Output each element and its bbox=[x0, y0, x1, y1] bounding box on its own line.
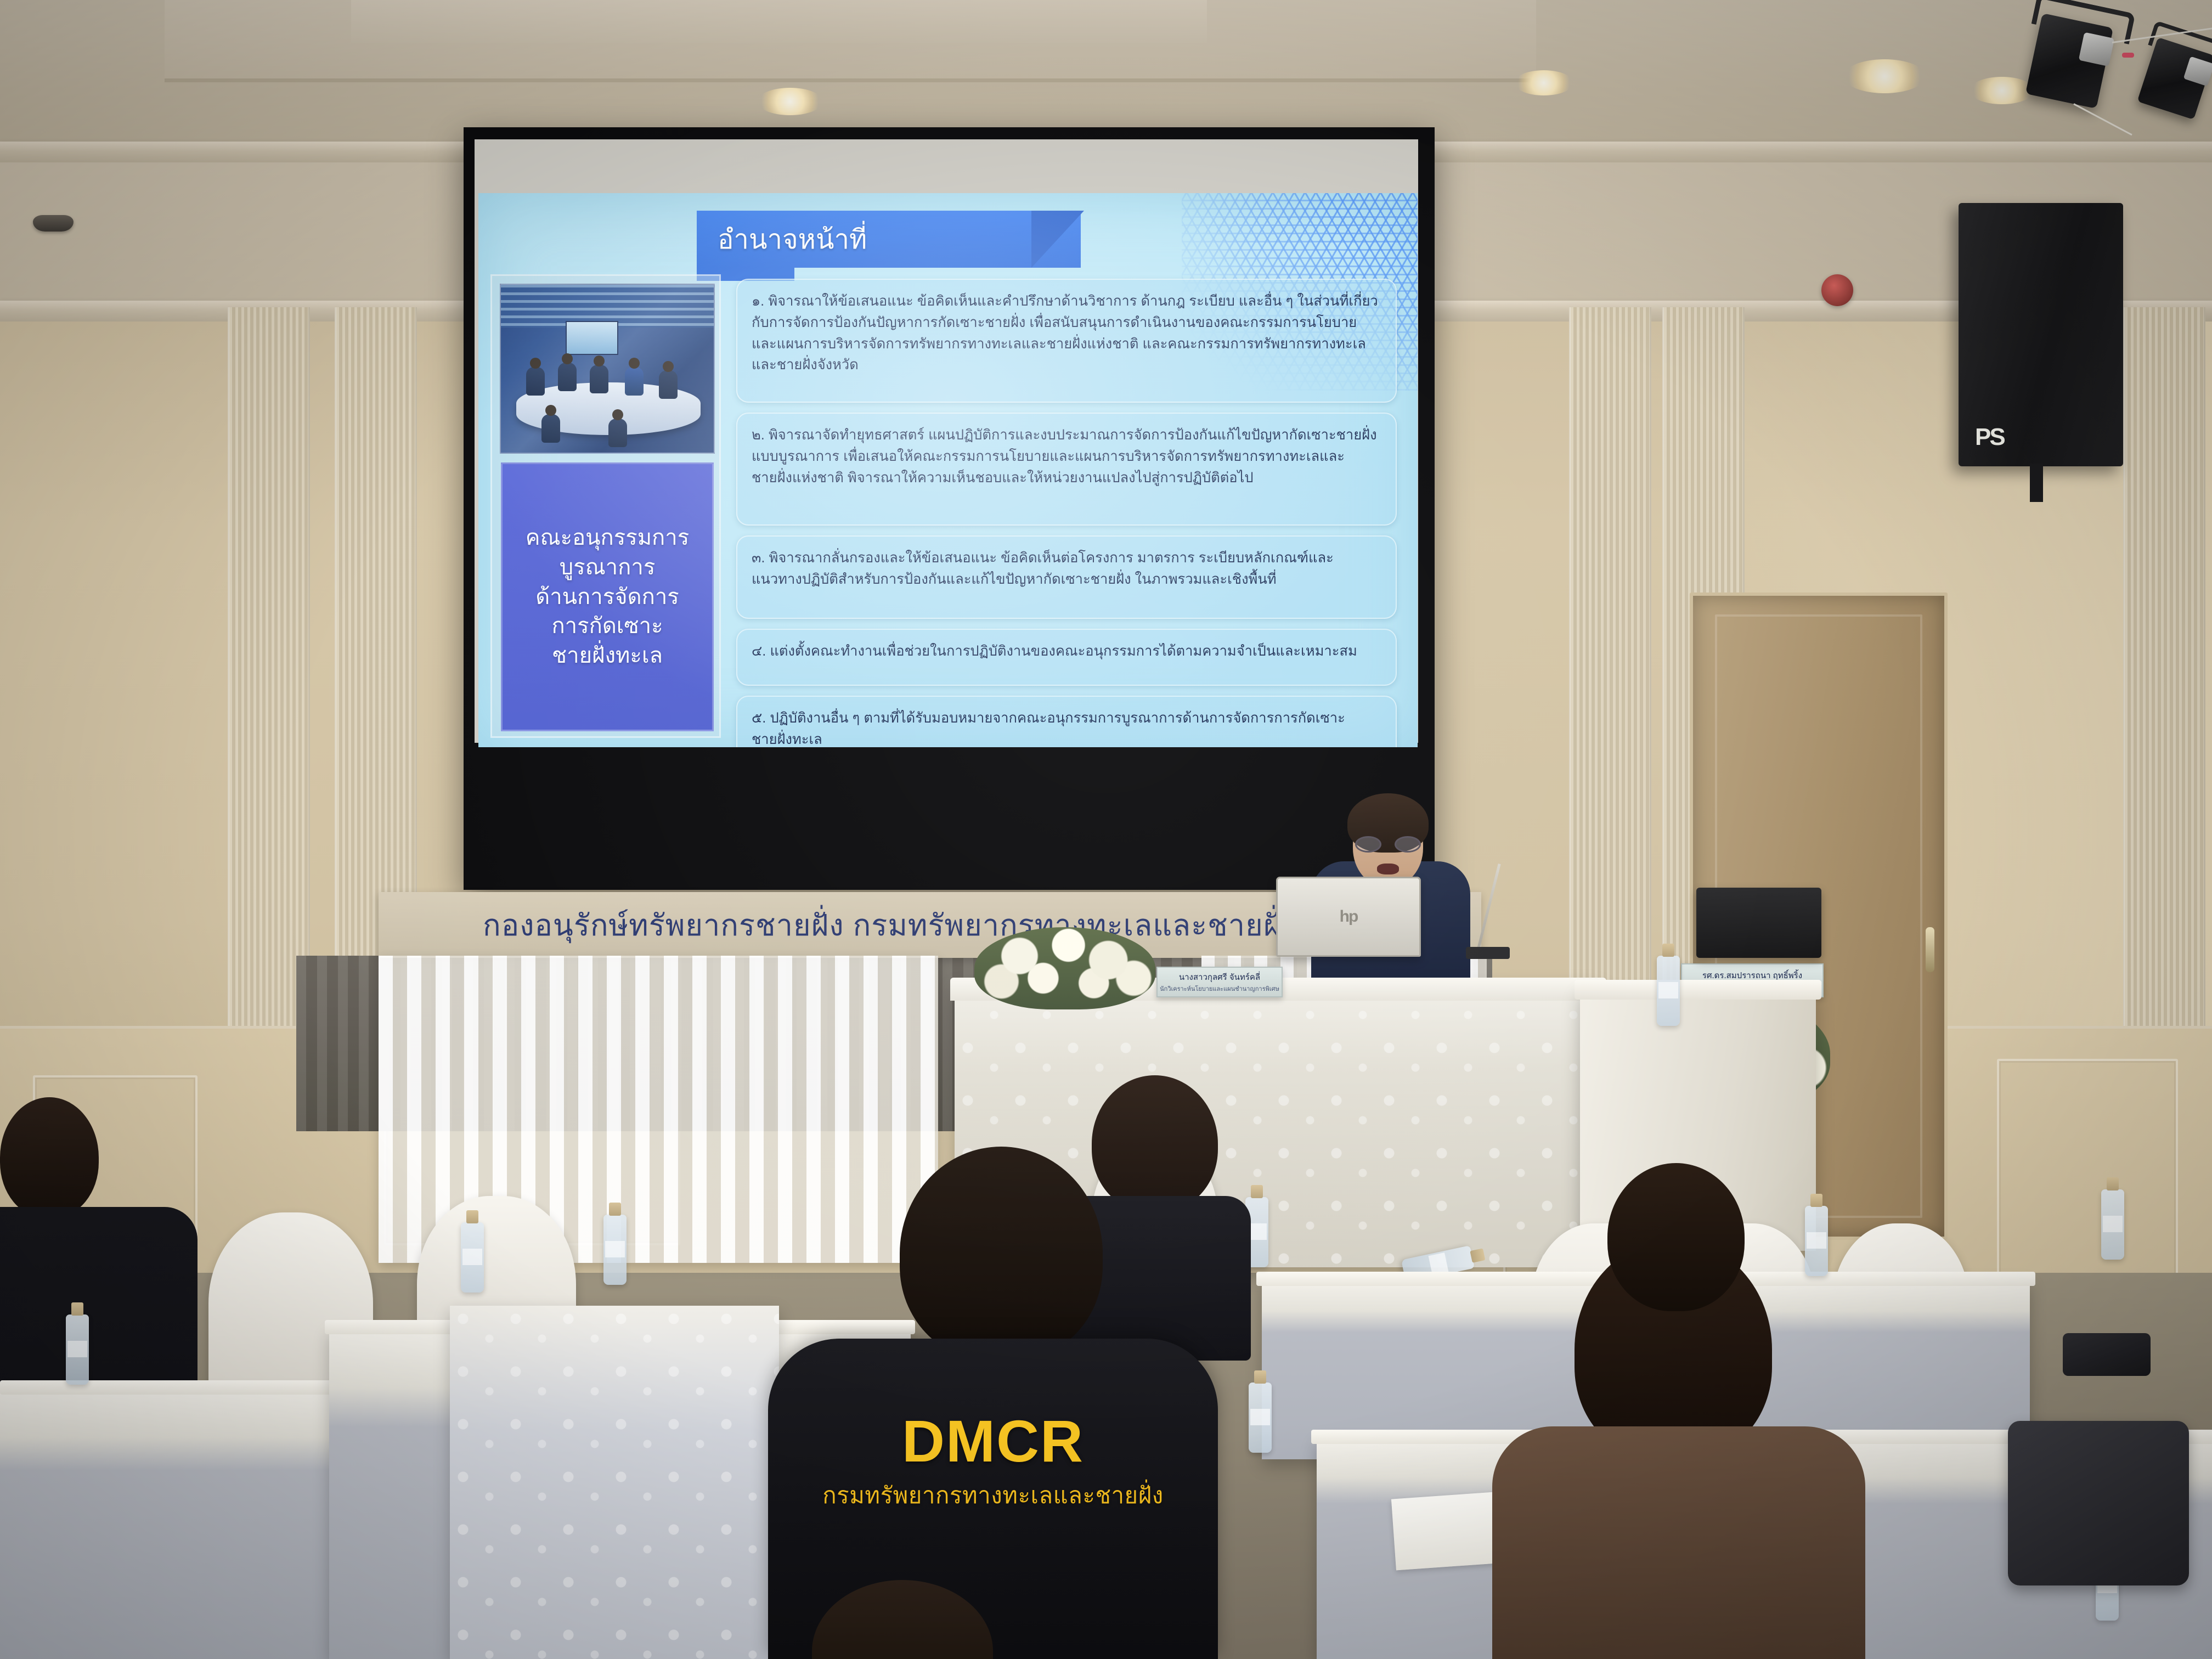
flower-arrangement bbox=[974, 927, 1155, 1009]
slide-bullet-item: ๑. พิจารณาให้ข้อเสนอแนะ ข้อคิดเห็นและคำป… bbox=[736, 279, 1397, 403]
sidebar-title-line-3: ด้านการจัดการ bbox=[535, 585, 679, 610]
ceiling-recess-inner bbox=[351, 0, 1207, 43]
name-card: นางสาวกุลศรี จันทร์คลี่ นักวิเคราะห์นโยบ… bbox=[1156, 967, 1283, 997]
presenter-glasses bbox=[1355, 836, 1421, 853]
spotlight-indicator bbox=[2122, 53, 2134, 58]
table-lace-overlay bbox=[450, 1306, 779, 1659]
audience-head bbox=[1092, 1075, 1218, 1212]
photo-attendee bbox=[659, 370, 678, 399]
photo-attendee bbox=[608, 419, 627, 447]
dmcr-vest-text: DMCR กรมทรัพยากรทางทะเลและชายฝั่ง bbox=[768, 1407, 1218, 1514]
photo-attendee bbox=[590, 365, 608, 393]
glasses-lens-right bbox=[1395, 836, 1421, 853]
wall-panel bbox=[1997, 1059, 2178, 1300]
bag[interactable] bbox=[2008, 1421, 2189, 1585]
sidebar-title-line-1: คณะอนุกรรมการ bbox=[526, 526, 689, 550]
water-bottle[interactable] bbox=[2101, 1189, 2124, 1260]
speaker-mount-bracket bbox=[2030, 464, 2043, 502]
conference-room-scene: PS อำนาจหน้าที่ คณะอนุ bbox=[0, 0, 2212, 1659]
stage-banner-text: กองอนุรักษ์ทรัพยากรชายฝั่ง กรมทรัพยากรทา… bbox=[379, 901, 1296, 949]
dmcr-thai-name: กรมทรัพยากรทางทะเลและชายฝั่ง bbox=[822, 1477, 1164, 1514]
audience-head bbox=[1607, 1163, 1745, 1311]
phone[interactable] bbox=[2063, 1333, 2151, 1376]
name-card-role: นักวิเคราะห์นโยบายและแผนชำนาญการพิเศษ bbox=[1160, 984, 1279, 994]
side-laptop[interactable] bbox=[1696, 888, 1821, 958]
water-bottle[interactable] bbox=[603, 1215, 627, 1285]
water-bottle[interactable] bbox=[1805, 1206, 1828, 1276]
audience-head bbox=[0, 1097, 99, 1218]
projected-slide: อำนาจหน้าที่ คณะอนุกรรมการ บูรณาการ ด้าน… bbox=[478, 193, 1418, 747]
audience-torso bbox=[1492, 1426, 1865, 1659]
presenter-mouth bbox=[1377, 864, 1399, 874]
slide-bullet-list: ๑. พิจารณาให้ข้อเสนอแนะ ข้อคิดเห็นและคำป… bbox=[736, 279, 1397, 733]
ceiling-downlight bbox=[1843, 59, 1926, 93]
slide-bullet-item: ๔. แต่งตั้งคณะทำงานเพื่อช่วยในการปฏิบัติ… bbox=[736, 629, 1397, 686]
slide-bullet-item: ๓. พิจารณากลั่นกรองและให้ข้อเสนอแนะ ข้อค… bbox=[736, 535, 1397, 619]
fire-alarm-bell bbox=[1821, 274, 1853, 306]
slide-header-title: อำนาจหน้าที่ bbox=[697, 218, 867, 261]
water-bottle[interactable] bbox=[1657, 956, 1680, 1026]
slide-banner-notch bbox=[1031, 211, 1084, 268]
audience-table bbox=[450, 1306, 779, 1659]
sidebar-title-line-5: ชายฝั่งทะเล bbox=[552, 644, 663, 668]
side-podium-surface bbox=[1575, 980, 1821, 1000]
sidebar-title-line-4: การกัดเซาะ bbox=[551, 614, 663, 639]
photo-attendee bbox=[526, 367, 545, 396]
pilaster-right-c bbox=[2123, 307, 2205, 1119]
water-bottle[interactable] bbox=[66, 1314, 89, 1385]
slide-sidebar-title-box: คณะอนุกรรมการ บูรณาการ ด้านการจัดการ การ… bbox=[501, 462, 714, 731]
microphone-base bbox=[1466, 947, 1510, 959]
glasses-lens-left bbox=[1355, 836, 1381, 853]
presenter-laptop[interactable]: hp bbox=[1276, 877, 1421, 957]
laptop-brand-logo: hp bbox=[1340, 907, 1358, 926]
dmcr-acronym: DMCR bbox=[902, 1407, 1084, 1475]
slide-header-banner: อำนาจหน้าที่ bbox=[697, 211, 1081, 268]
ceiling-downlight bbox=[1514, 70, 1573, 95]
smoke-detector bbox=[33, 215, 74, 232]
slide-meeting-photo bbox=[500, 284, 715, 454]
wall-speaker: PS bbox=[1959, 203, 2123, 466]
name-card-name: นางสาวกุลศรี จันทร์คลี่ bbox=[1179, 970, 1260, 984]
door-handle[interactable] bbox=[1926, 927, 1934, 972]
photo-attendee bbox=[558, 363, 577, 391]
audience-head bbox=[900, 1147, 1103, 1361]
slide-bullet-item: ๕. ปฏิบัติงานอื่น ๆ ตามที่ได้รับมอบหมายจ… bbox=[736, 696, 1397, 747]
slide-bullet-item: ๒. พิจารณาจัดทำยุทธศาสตร์ แผนปฏิบัติการแ… bbox=[736, 413, 1397, 526]
sidebar-title-line-2: บูรณาการ bbox=[560, 555, 656, 580]
photo-projection-screen bbox=[566, 321, 618, 355]
photo-attendee bbox=[625, 367, 644, 396]
ceiling-downlight bbox=[1970, 77, 2034, 104]
ceiling-downlight bbox=[757, 88, 823, 115]
photo-attendee bbox=[541, 414, 560, 443]
speaker-brand-logo: PS bbox=[1975, 424, 2004, 451]
water-bottle[interactable] bbox=[461, 1222, 484, 1293]
water-bottle[interactable] bbox=[1249, 1383, 1272, 1453]
slide-sidebar: คณะอนุกรรมการ บูรณาการ ด้านการจัดการ การ… bbox=[490, 274, 721, 738]
